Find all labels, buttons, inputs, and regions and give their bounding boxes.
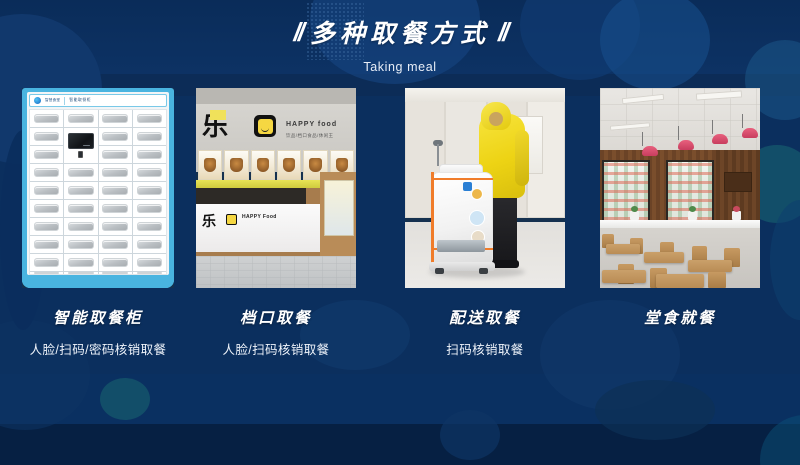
locker-cell[interactable] [30,146,63,163]
service-counter [196,204,320,256]
robot-sticker [469,210,485,226]
locker-door [68,240,93,250]
caption-dine-in: 堂食就餐 [600,306,760,339]
locker-door [34,204,59,214]
locker-door [102,186,127,196]
locker-door [34,132,59,142]
locker-cell-grid [29,109,167,275]
locker-screen[interactable] [68,133,95,149]
locker-cell[interactable] [64,236,97,253]
locker-door [68,272,93,274]
locker-face: 智慧食堂 智能取餐柜 [27,92,169,275]
lamp-shade [678,140,694,150]
locker-cell[interactable] [133,254,166,271]
caption-delivery-pickup: 配送取餐 扫码核销取餐 [405,306,565,358]
locker-door [102,258,127,268]
locker-cell[interactable] [64,218,97,235]
locker-cell[interactable] [133,182,166,199]
card-delivery-pickup[interactable]: 配送取餐 扫码核销取餐 [405,88,565,288]
background-blob [595,380,715,440]
robot-orange-stripe [431,178,493,180]
potted-plant [732,211,741,220]
dining-table [644,252,684,263]
locker-door [34,186,59,196]
card-title: 智能取餐柜 [22,306,174,328]
lamp-shade [742,128,758,138]
locker-door [102,204,127,214]
locker-door [102,150,127,160]
locker-cell[interactable] [99,200,132,217]
counter-brand-en: HAPPY Food [242,214,277,220]
slide-canvas: // 多种取餐方式 // Taking meal 智慧食堂 智能取餐柜 [0,0,800,465]
potted-plant [688,211,697,220]
shop-brand-en: HAPPY food [286,121,337,128]
locker-brand-logo-icon [34,97,41,104]
locker-door [68,186,93,196]
locker-cell[interactable] [30,254,63,271]
menu-poster [198,150,222,180]
caption-smart-locker: 智能取餐柜 人脸/扫码/密码核销取餐 [22,306,174,358]
lamp-shade [642,146,658,156]
lamp-cord [678,126,679,140]
lamp-cord [742,114,743,128]
locker-cell[interactable] [64,254,97,271]
side-display-case [324,180,354,236]
dining-table [606,244,640,254]
locker-door [34,168,59,178]
locker-door [137,222,162,232]
smiley-face-icon [258,119,273,134]
locker-cell[interactable] [99,164,132,181]
locker-cell[interactable] [133,218,166,235]
smart-meal-locker-photo: 智慧食堂 智能取餐柜 [22,88,174,288]
robot-antenna [437,144,439,166]
locker-cell[interactable] [99,110,132,127]
locker-brand-text: 智慧食堂 [45,98,60,103]
locker-cell[interactable] [64,110,97,127]
dining-counter-top [600,220,760,228]
dining-table [688,260,732,272]
robot-wheel [435,268,444,274]
card-title: 配送取餐 [405,306,565,328]
slash-ornament-right: // [498,19,506,45]
dining-table [602,270,646,283]
locker-cell[interactable] [133,146,166,163]
menu-poster [277,150,301,180]
slide-header: // 多种取餐方式 // Taking meal [0,14,800,74]
locker-door [137,186,162,196]
locker-door [68,114,93,124]
potted-plant [630,211,639,220]
locker-cell[interactable] [133,164,166,181]
locker-door [34,272,59,274]
locker-cell[interactable] [133,128,166,145]
shop-logo-accent [210,110,226,120]
robot-badge [463,182,472,191]
card-counter-pickup[interactable]: 乐 HAPPY food 饮品/档口食品/休闲王 [196,88,356,288]
locker-cabinet: 智慧食堂 智能取餐柜 [22,88,174,288]
locker-cell[interactable] [64,182,97,199]
locker-door [68,222,93,232]
dining-area-photo [600,88,760,288]
locker-cell[interactable] [99,218,132,235]
card-smart-locker[interactable]: 智慧食堂 智能取餐柜 [22,88,174,288]
shop-brand-sub: 饮品/档口食品/休闲王 [286,133,333,139]
shop-wall-top-trim [196,88,356,104]
courier-face [489,112,503,126]
smiley-logo-icon [254,115,276,137]
locker-cell[interactable] [64,164,97,181]
locker-cell[interactable] [30,236,63,253]
locker-cell[interactable] [99,272,132,274]
dining-chair [708,272,726,288]
robot-wheel [479,268,488,274]
wall-cabinet [724,172,752,192]
card-title: 档口取餐 [196,306,356,328]
locker-door [102,114,127,124]
slash-ornament-left: // [294,19,302,45]
locker-door [137,258,162,268]
fridge-goods [604,162,648,220]
card-dine-in[interactable]: 堂食就餐 [600,88,760,288]
locker-door [137,150,162,160]
locker-door [68,204,93,214]
page-subtitle: Taking meal [0,60,800,74]
locker-cell[interactable] [30,182,63,199]
locker-cell[interactable] [133,272,166,274]
card-subtitle: 人脸/扫码/密码核销取餐 [22,339,174,358]
back-shelf-dark [196,188,306,204]
locker-door [34,240,59,250]
qr-scanner-icon [78,151,83,158]
card-subtitle: 扫码核销取餐 [405,339,565,358]
locker-cell[interactable] [64,200,97,217]
courier-legs [491,192,517,266]
card-title: 堂食就餐 [600,306,760,328]
locker-cell[interactable] [99,236,132,253]
locker-cell[interactable] [99,182,132,199]
card-subtitle: 人脸/扫码核销取餐 [196,339,356,358]
locker-door [137,240,162,250]
locker-header-title: 智能取餐柜 [69,98,91,103]
food-counter-photo: 乐 HAPPY food 饮品/档口食品/休闲王 [196,88,356,288]
counter-logo-zh: 乐 [202,214,216,228]
locker-cell[interactable] [30,218,63,235]
locker-cell[interactable] [30,200,63,217]
locker-door [102,240,127,250]
lamp-shade [712,134,728,144]
locker-door [137,168,162,178]
display-fridge [602,160,650,222]
delivery-robot-photo [405,88,565,288]
locker-cell[interactable] [64,272,97,274]
lamp-cord [712,120,713,134]
locker-header-divider [64,97,65,105]
locker-door [68,168,93,178]
card-row: 智慧食堂 智能取餐柜 [0,88,800,388]
locker-cell[interactable] [133,236,166,253]
locker-cell[interactable] [30,128,63,145]
robot-control-panel [437,240,485,252]
locker-cell[interactable] [99,254,132,271]
locker-door [34,258,59,268]
locker-cell[interactable] [30,110,63,127]
locker-door [34,150,59,160]
locker-touchscreen-module[interactable] [64,128,97,163]
robot-orange-edge [431,172,434,264]
locker-cell[interactable] [99,146,132,163]
locker-door [102,222,127,232]
title-row: // 多种取餐方式 // [0,14,800,50]
locker-door [137,204,162,214]
locker-door [137,272,162,274]
robot-sticker [471,188,483,200]
locker-base [22,275,174,288]
locker-cell[interactable] [133,200,166,217]
locker-door [102,168,127,178]
page-title: 多种取餐方式 [310,14,490,50]
lamp-cord [642,132,643,146]
counter-smiley-icon [226,214,237,225]
locker-door [102,132,127,142]
locker-door [102,272,127,274]
dining-table [656,274,704,288]
locker-cell[interactable] [30,272,63,274]
lobby-ceiling-strip [405,88,565,102]
locker-cell[interactable] [133,110,166,127]
background-blob [440,410,500,460]
courier-arm [515,130,529,186]
locker-door [68,258,93,268]
locker-cell[interactable] [30,164,63,181]
locker-door [34,222,59,232]
locker-header-bar: 智慧食堂 智能取餐柜 [29,94,167,107]
shop-floor-tiles [196,256,356,288]
locker-door [137,114,162,124]
locker-door [34,114,59,124]
locker-door [137,132,162,142]
locker-cell[interactable] [99,128,132,145]
caption-counter-pickup: 档口取餐 人脸/扫码核销取餐 [196,306,356,358]
menu-poster [251,150,275,180]
menu-poster [224,150,248,180]
